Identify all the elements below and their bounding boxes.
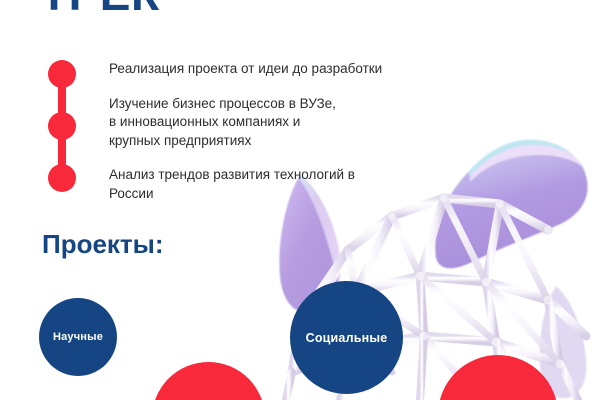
bullet-item-2: Изучение бизнес процессов в ВУЗе, в инно… bbox=[109, 95, 465, 151]
timeline-dot-2 bbox=[48, 112, 76, 140]
project-circle-red-left[interactable] bbox=[152, 362, 265, 400]
project-circle-socialnye[interactable]: Социальные bbox=[290, 281, 403, 394]
slide-canvas: ТРЕК Реализация проекта от идеи до разра… bbox=[0, 0, 600, 400]
bullet-item-1: Реализация проекта от идеи до разработки bbox=[109, 60, 465, 79]
bullet-list: Реализация проекта от идеи до разработки… bbox=[109, 60, 465, 203]
timeline-dot-3 bbox=[48, 164, 76, 192]
project-circle-nauchnye-label: Научные bbox=[53, 331, 103, 343]
bullet-timeline bbox=[48, 60, 76, 192]
project-circle-nauchnye[interactable]: Научные bbox=[39, 298, 117, 376]
section-heading-projects: Проекты: bbox=[42, 228, 164, 260]
page-title: ТРЕК bbox=[40, 0, 160, 20]
timeline-dot-1 bbox=[48, 60, 76, 88]
project-circle-red-right[interactable] bbox=[438, 355, 558, 400]
bullet-item-3: Анализ трендов развития технологий в Рос… bbox=[109, 166, 465, 203]
project-circle-socialnye-label: Социальные bbox=[306, 331, 388, 345]
